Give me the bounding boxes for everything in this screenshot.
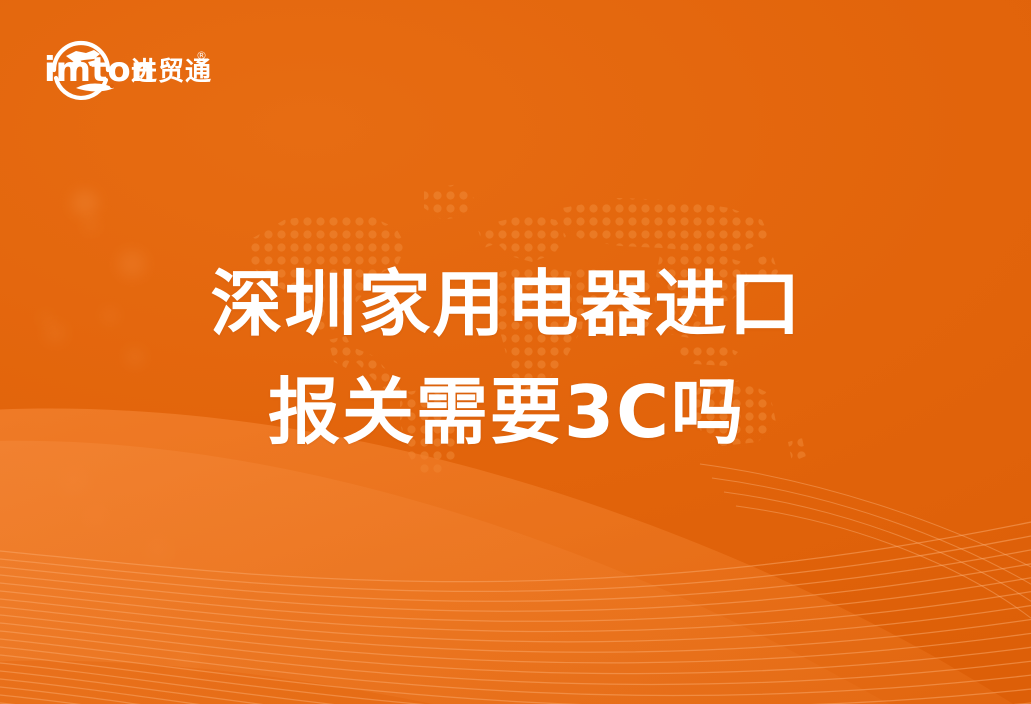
headline-block: 深圳家用电器进口 报关需要3C吗 <box>0 258 1031 459</box>
trademark-icon: ® <box>196 49 207 62</box>
brand-logo[interactable]: imton 进贸通 ® <box>36 26 216 104</box>
promo-banner: imton 进贸通 ® 深圳家用电器进口 报关需要3C吗 <box>0 0 1031 704</box>
headline-line-1: 深圳家用电器进口 <box>0 258 1013 352</box>
headline-line-2: 报关需要3C吗 <box>0 366 1013 460</box>
